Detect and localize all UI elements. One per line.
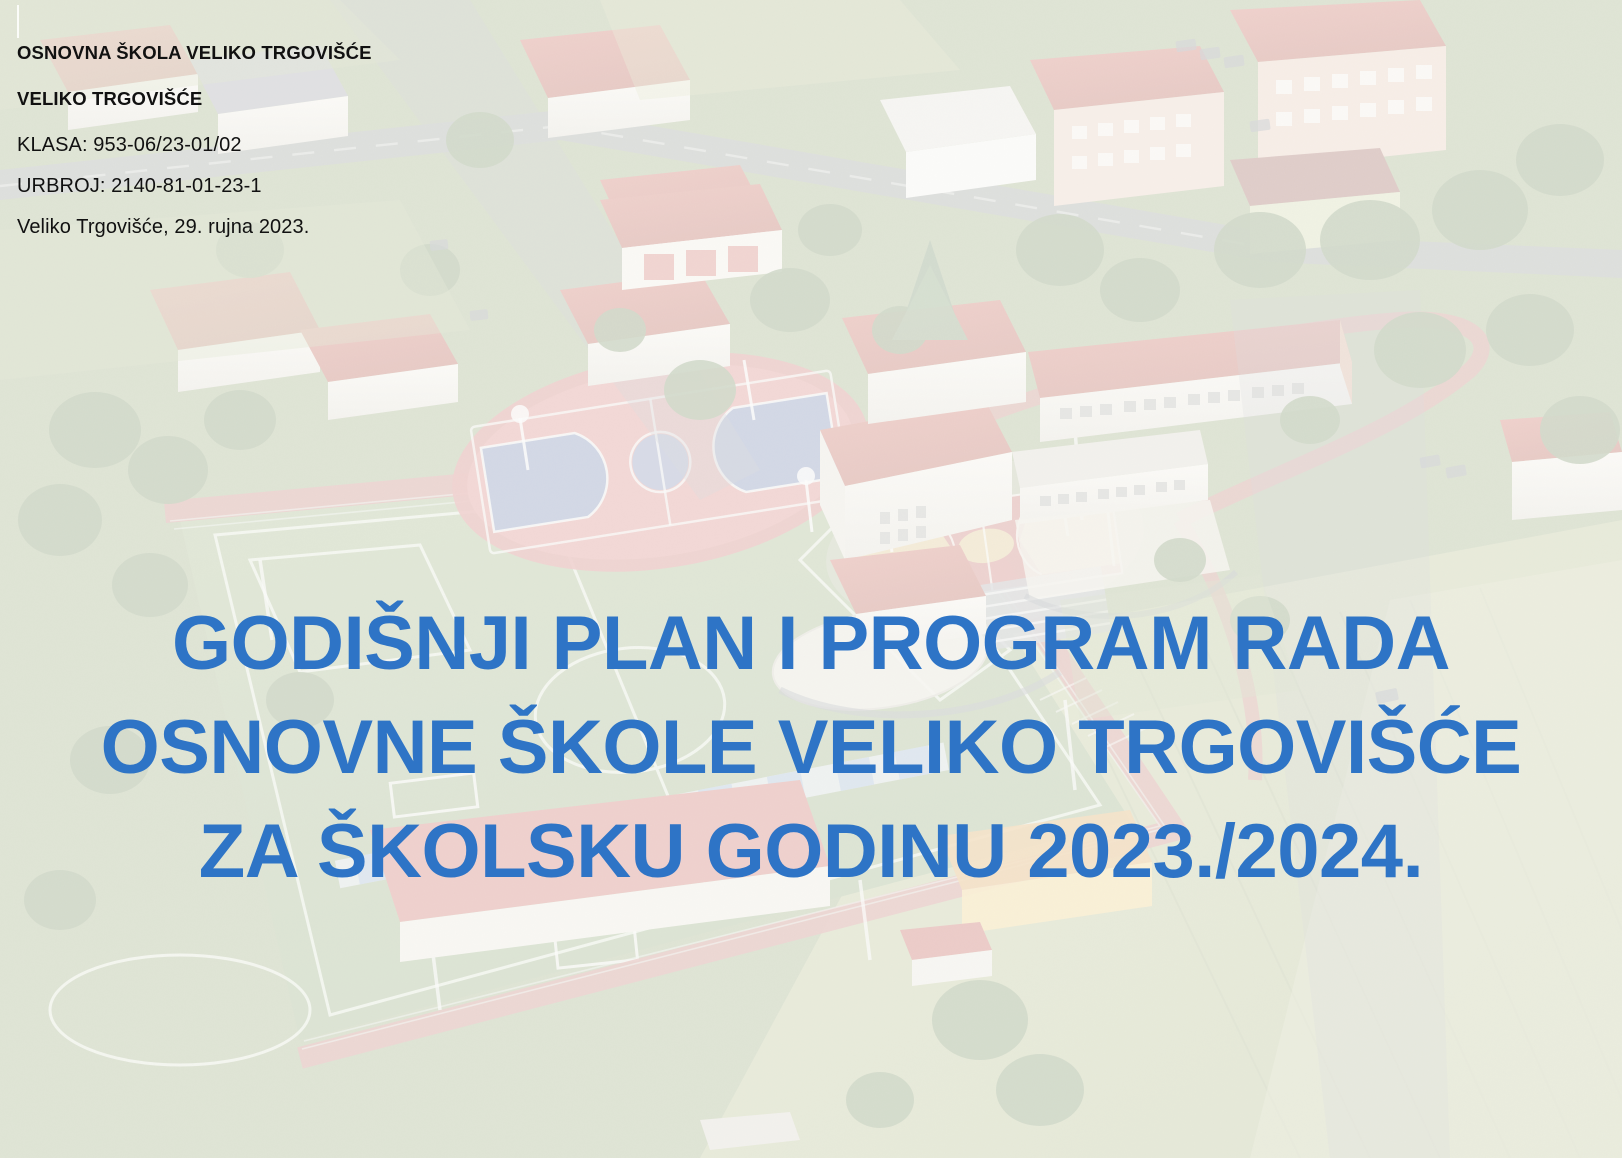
title-line-3: ZA ŠKOLSKU GODINU 2023./2024. [22, 800, 1600, 904]
document-title: GODIŠNJI PLAN I PROGRAM RADA OSNOVNE ŠKO… [0, 592, 1622, 904]
text-cursor-artifact [17, 5, 19, 38]
title-line-2: OSNOVNE ŠKOLE VELIKO TRGOVIŠĆE [22, 696, 1600, 800]
cover-page: OSNOVNA ŠKOLA VELIKO TRGOVIŠĆE VELIKO TR… [0, 0, 1622, 1158]
header-text-block: OSNOVNA ŠKOLA VELIKO TRGOVIŠĆE VELIKO TR… [17, 44, 837, 237]
institution-name: OSNOVNA ŠKOLA VELIKO TRGOVIŠĆE [17, 44, 837, 63]
title-line-1: GODIŠNJI PLAN I PROGRAM RADA [22, 592, 1600, 696]
klasa-reference: KLASA: 953-06/23-01/02 [17, 135, 837, 155]
dateline: Veliko Trgovišće, 29. rujna 2023. [17, 217, 837, 237]
urbroj-reference: URBROJ: 2140-81-01-23-1 [17, 176, 837, 196]
institution-place: VELIKO TRGOVIŠĆE [17, 90, 837, 109]
